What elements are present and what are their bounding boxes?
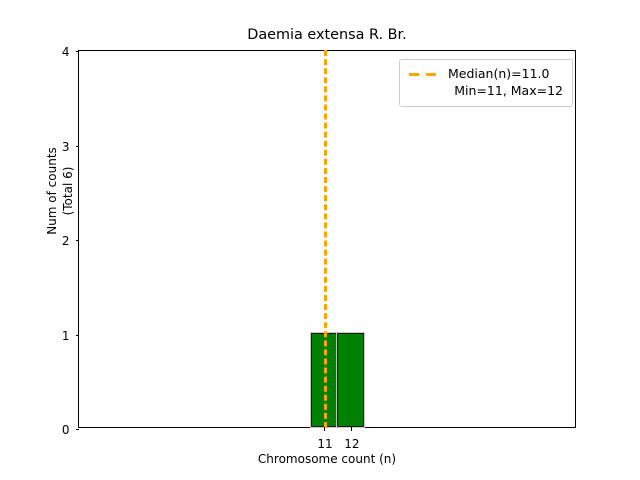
xtick-label-11: 11 [317,437,332,451]
chart-title: Daemia extensa R. Br. [78,26,576,44]
ytick-label-0: 0 [62,424,70,436]
ytick-mark-1: 1 [76,335,80,336]
legend-entry-median: Median(n)=11.0 [408,66,564,82]
median-line [324,50,327,428]
plot-area: 0 1 2 3 4 11 12 [78,50,576,428]
ytick-mark-4: 4 [76,51,80,52]
x-axis-label: Chromosome count (n) [78,452,576,466]
figure-canvas: Daemia extensa R. Br. 0 1 2 3 4 [0,0,640,480]
dashed-line-icon [408,67,440,81]
ytick-mark-0: 0 [76,429,80,430]
legend: Median(n)=11.0 Min=11, Max=12 [399,59,573,107]
ytick-mark-2: 2 [76,240,80,241]
xtick-label-12: 12 [344,437,359,451]
plot-inner: 0 1 2 3 4 11 12 [79,51,575,427]
ytick-label-4: 4 [62,46,70,58]
y-axis-label: Num of counts (Total 6) [44,71,76,311]
xtick-mark-11: 11 [324,427,325,431]
legend-label-range: Min=11, Max=12 [408,82,564,99]
ytick-label-1: 1 [62,330,70,342]
bar-12 [337,333,364,428]
ytick-mark-3: 3 [76,146,80,147]
legend-label-median: Median(n)=11.0 [448,66,549,82]
xtick-mark-12: 12 [351,427,352,431]
